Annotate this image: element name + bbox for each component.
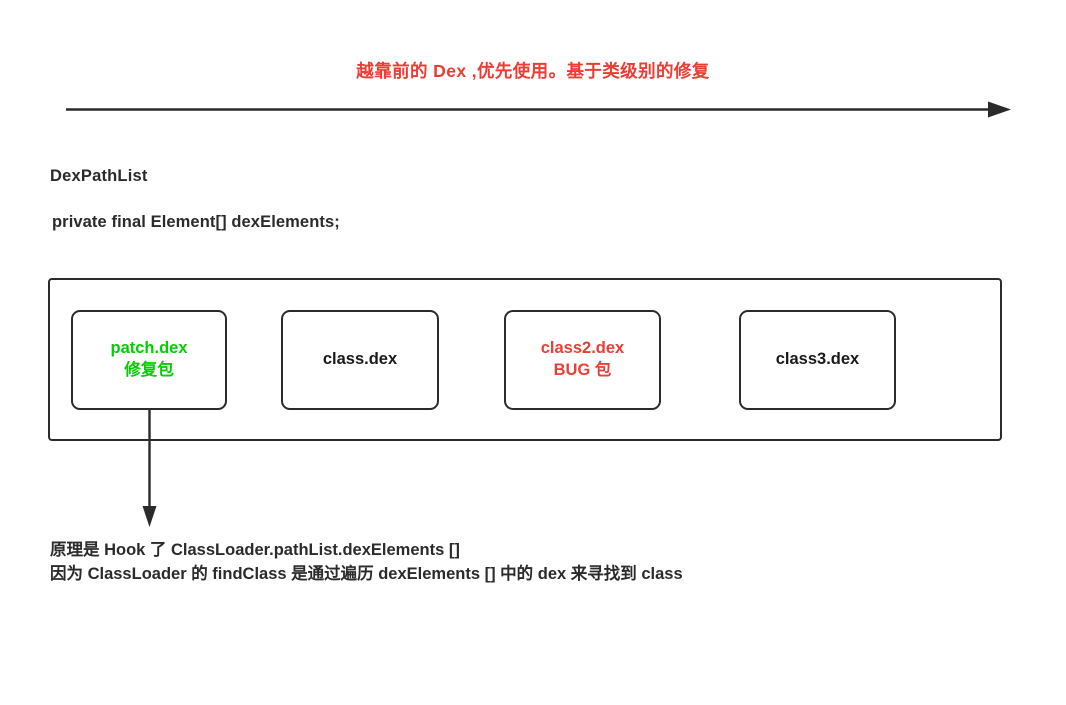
- explanation-note-line-2: 因为 ClassLoader 的 findClass 是通过遍历 dexElem…: [50, 562, 683, 586]
- dexpathlist-label: DexPathList: [50, 167, 148, 186]
- dex-box-class-dex-line-1: class.dex: [323, 349, 397, 371]
- dex-box-class2-dex-line-1: class2.dex: [541, 338, 624, 360]
- patch-dex-callout-arrow: [134, 408, 166, 532]
- dex-box-class2-dex: class2.dex BUG 包: [504, 310, 661, 410]
- diagram-canvas: 越靠前的 Dex ,优先使用。基于类级别的修复 DexPathList priv…: [0, 0, 1066, 705]
- dex-box-class-dex: class.dex: [281, 310, 439, 410]
- dex-box-patch-dex-line-2: 修复包: [124, 360, 174, 382]
- dex-box-patch-dex-line-1: patch.dex: [110, 338, 187, 360]
- dex-box-class3-dex-line-1: class3.dex: [776, 349, 859, 371]
- priority-direction-arrow: [60, 96, 1016, 124]
- page-title: 越靠前的 Dex ,优先使用。基于类级别的修复: [0, 58, 1066, 83]
- dex-box-class3-dex: class3.dex: [739, 310, 896, 410]
- dex-box-class2-dex-line-2: BUG 包: [554, 360, 612, 382]
- explanation-note-line-1: 原理是 Hook 了 ClassLoader.pathList.dexEleme…: [50, 538, 683, 562]
- explanation-note: 原理是 Hook 了 ClassLoader.pathList.dexEleme…: [50, 538, 683, 586]
- dexelements-field-declaration: private final Element[] dexElements;: [52, 213, 340, 232]
- dex-box-patch-dex: patch.dex 修复包: [71, 310, 227, 410]
